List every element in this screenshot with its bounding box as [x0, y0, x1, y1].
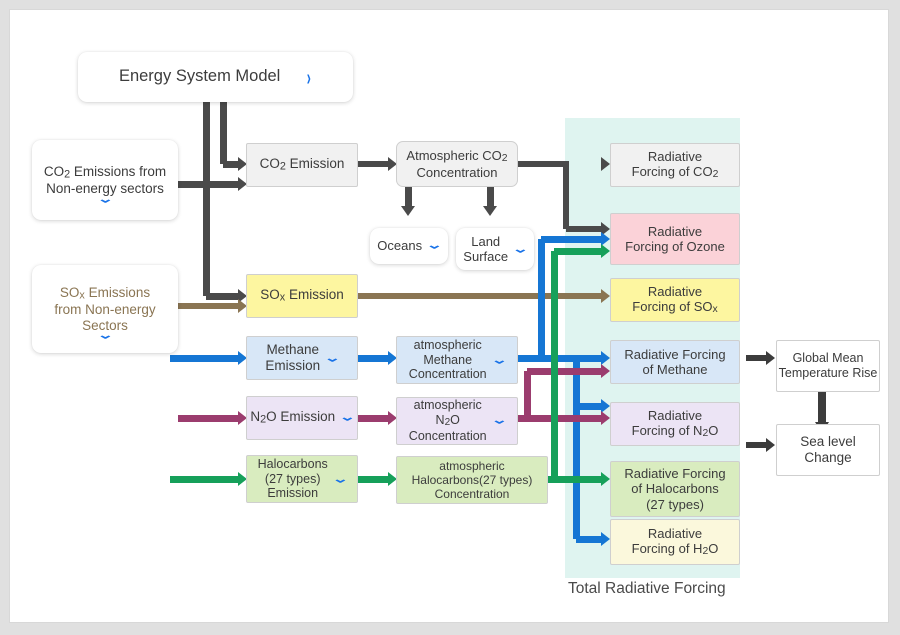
- atm-co2-conc-label: Atmospheric CO2Concentration: [406, 148, 507, 181]
- land-surface-card[interactable]: LandSurface⌄: [456, 228, 534, 270]
- total-radiative-forcing-caption: Total Radiative Forcing: [568, 580, 726, 598]
- connector-segment: [538, 239, 545, 358]
- atm-n2o-conc-label: atmosphericN2OConcentration: [409, 398, 487, 443]
- connector-segment: [527, 368, 601, 375]
- arrowhead-right-icon: [601, 472, 610, 486]
- connector-segment: [170, 355, 238, 362]
- methane-emission-label: MethaneEmission: [265, 342, 320, 374]
- chevron-right-icon[interactable]: ›: [307, 66, 311, 89]
- n2o-emission-chevron-down-icon[interactable]: ⌄: [339, 413, 356, 424]
- connector-segment: [358, 476, 388, 483]
- diagram-frame: Energy System Model›CO2 Emissions fromNo…: [10, 10, 888, 622]
- rf-sox[interactable]: RadiativeForcing of SOx: [610, 278, 740, 322]
- connector-segment: [170, 476, 238, 483]
- connector-segment: [566, 226, 601, 232]
- rf-methane-label: Radiative Forcingof Methane: [624, 347, 725, 378]
- rf-ozone[interactable]: RadiativeForcing of Ozone: [610, 213, 740, 265]
- arrowhead-down-icon: [483, 206, 497, 216]
- arrowhead-right-icon: [601, 351, 610, 365]
- rf-methane[interactable]: Radiative Forcingof Methane: [610, 340, 740, 384]
- connector-segment: [746, 442, 766, 448]
- connector-segment: [518, 161, 569, 167]
- co2-nonenergy-card-label: CO2 Emissions fromNon-energy sectors: [44, 164, 166, 197]
- co2-nonenergy-card[interactable]: CO2 Emissions fromNon-energy sectors: [32, 140, 178, 220]
- connector-segment: [818, 392, 826, 422]
- global-mean-temperature-rise[interactable]: Global MeanTemperature Rise: [776, 340, 880, 392]
- connector-segment: [551, 251, 558, 479]
- connector-segment: [358, 161, 388, 167]
- rf-n2o-label: RadiativeForcing of N2O: [632, 408, 719, 441]
- atm-co2-conc[interactable]: Atmospheric CO2Concentration: [396, 141, 518, 187]
- sea-level-change[interactable]: Sea levelChange: [776, 424, 880, 476]
- connector-segment: [358, 415, 388, 422]
- arrowhead-right-icon: [601, 532, 610, 546]
- connector-segment: [554, 248, 601, 255]
- connector-segment: [576, 536, 601, 543]
- methane-emission-chevron-down-icon[interactable]: ⌄: [324, 353, 341, 364]
- atm-methane-conc-label: atmosphericMethaneConcentration: [409, 338, 487, 382]
- sea-level-change-label: Sea levelChange: [800, 434, 856, 466]
- connector-segment: [203, 180, 210, 296]
- rf-sox-label: RadiativeForcing of SOx: [632, 284, 717, 317]
- sox-nonenergy-chevron-down-icon[interactable]: ⌄: [97, 330, 114, 341]
- rf-halocarbons[interactable]: Radiative Forcingof Halocarbons(27 types…: [610, 461, 740, 517]
- connector-segment: [178, 303, 238, 309]
- rf-h2o-label: RadiativeForcing of H2O: [632, 526, 719, 559]
- co2-nonenergy-chevron-down-icon[interactable]: ⌄: [97, 194, 114, 205]
- connector-segment: [563, 164, 569, 229]
- connector-segment: [206, 293, 238, 300]
- connector-segment: [746, 355, 766, 361]
- atm-methane-conc[interactable]: atmosphericMethaneConcentration⌄: [396, 336, 518, 384]
- oceans-card[interactable]: Oceans⌄: [370, 228, 448, 264]
- rf-halocarbons-label: Radiative Forcingof Halocarbons(27 types…: [624, 466, 725, 512]
- connector-segment: [178, 415, 238, 422]
- atm-n2o-conc[interactable]: atmosphericN2OConcentration⌄: [396, 397, 518, 445]
- land-surface-card-label: LandSurface: [463, 234, 508, 265]
- oceans-card-label: Oceans: [377, 238, 422, 253]
- global-mean-temperature-rise-label: Global MeanTemperature Rise: [779, 351, 878, 381]
- atm-halocarbons-conc[interactable]: atmosphericHalocarbons(27 types)Concentr…: [396, 456, 548, 504]
- connector-segment: [487, 186, 494, 206]
- rf-co2[interactable]: RadiativeForcing of CO2: [610, 143, 740, 187]
- methane-emission[interactable]: MethaneEmission⌄: [246, 336, 358, 380]
- rf-co2-label: RadiativeForcing of CO2: [632, 149, 719, 182]
- connector-segment: [358, 293, 601, 299]
- arrowhead-right-icon: [601, 411, 610, 425]
- connector-segment: [524, 371, 531, 418]
- land-surface-card-chevron-down-icon[interactable]: ⌄: [512, 244, 529, 255]
- arrowhead-right-icon: [601, 289, 610, 303]
- oceans-card-chevron-down-icon[interactable]: ⌄: [426, 241, 443, 252]
- co2-emission-label: CO2 Emission: [260, 156, 345, 173]
- sox-emission[interactable]: SOx Emission: [246, 274, 358, 318]
- atm-n2o-conc-chevron-down-icon[interactable]: ⌄: [490, 416, 507, 427]
- energy-system-model-title: Energy System Model: [119, 67, 280, 86]
- rf-n2o[interactable]: RadiativeForcing of N2O: [610, 402, 740, 446]
- arrowhead-right-icon: [601, 364, 610, 378]
- halocarbons-emission[interactable]: Halocarbons(27 types)Emission⌄: [246, 455, 358, 503]
- connector-segment: [223, 161, 238, 168]
- atm-methane-conc-chevron-down-icon[interactable]: ⌄: [490, 355, 507, 366]
- diagram-canvas: Energy System Model›CO2 Emissions fromNo…: [10, 10, 888, 622]
- atm-halocarbons-conc-label: atmosphericHalocarbons(27 types)Concentr…: [412, 459, 533, 501]
- connector-segment: [358, 355, 388, 362]
- connector-segment: [203, 95, 210, 180]
- n2o-emission-label: N2O Emission: [250, 409, 335, 426]
- arrowhead-right-icon: [601, 244, 610, 258]
- arrowhead-right-icon: [766, 351, 775, 365]
- halocarbons-emission-label: Halocarbons(27 types)Emission: [258, 457, 328, 501]
- connector-segment: [541, 236, 601, 243]
- n2o-emission[interactable]: N2O Emission⌄: [246, 396, 358, 440]
- energy-system-model-card[interactable]: Energy System Model›: [78, 52, 353, 102]
- co2-emission[interactable]: CO2 Emission: [246, 143, 358, 187]
- arrowhead-right-icon: [601, 157, 610, 171]
- halocarbons-emission-chevron-down-icon[interactable]: ⌄: [332, 474, 349, 485]
- sox-emission-label: SOx Emission: [260, 287, 343, 304]
- rf-h2o[interactable]: RadiativeForcing of H2O: [610, 519, 740, 565]
- connector-segment: [220, 95, 227, 164]
- arrowhead-down-icon: [401, 206, 415, 216]
- rf-ozone-label: RadiativeForcing of Ozone: [625, 224, 725, 255]
- connector-segment: [573, 358, 580, 539]
- arrowhead-right-icon: [766, 438, 775, 452]
- connector-segment: [576, 403, 601, 410]
- sox-nonenergy-card-label: SOx Emissionsfrom Non-energySectors: [54, 285, 155, 334]
